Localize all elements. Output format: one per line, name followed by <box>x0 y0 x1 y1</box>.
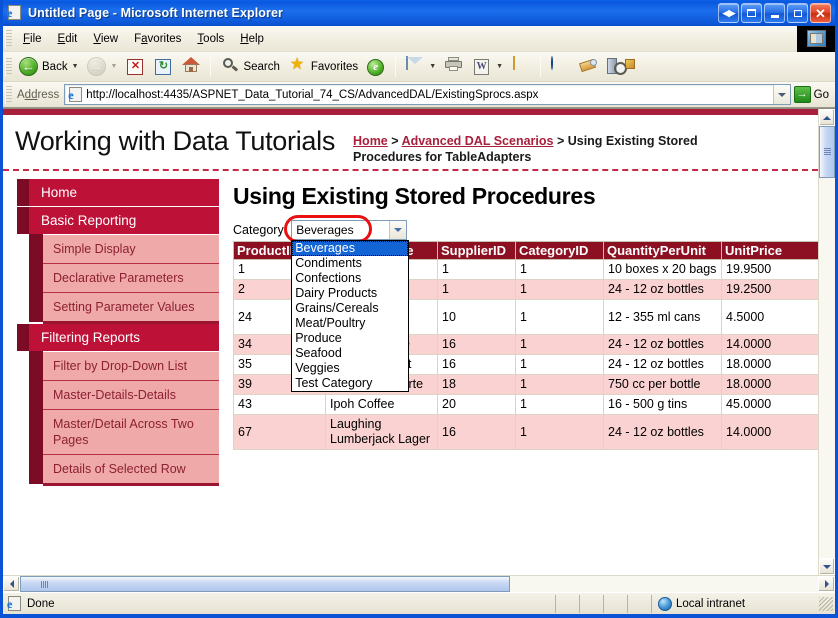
encoding-button[interactable] <box>630 55 658 79</box>
breadcrumb-link-home[interactable]: Home <box>353 134 388 148</box>
option-meat-poultry[interactable]: Meat/Poultry <box>292 316 408 331</box>
option-beverages[interactable]: Beverages <box>292 241 408 256</box>
cell-unitprice: 45.0000 <box>722 395 819 415</box>
toolbar-separator-3 <box>540 57 541 77</box>
security-zone-label: Local intranet <box>676 598 745 610</box>
cell-quantityperunit: 12 - 355 ml cans <box>604 300 722 335</box>
cell-unitprice: 14.0000 <box>722 415 819 450</box>
print-icon <box>444 57 464 77</box>
sidebar-item-master-details-details[interactable]: Master-Details-Details <box>43 381 219 410</box>
messenger-button[interactable] <box>546 55 574 79</box>
ie-document-icon: e <box>7 5 23 21</box>
category-select-value: Beverages <box>296 223 353 237</box>
sidebar-item-details-of-selected-row[interactable]: Details of Selected Row <box>43 455 219 486</box>
favorites-button-label: Favorites <box>311 61 358 73</box>
cell-categoryid: 1 <box>516 300 604 335</box>
scroll-up-button[interactable] <box>819 109 835 126</box>
page-header: Working with Data Tutorials Home > Advan… <box>3 115 818 171</box>
option-condiments[interactable]: Condiments <box>292 256 408 271</box>
cell-quantityperunit: 10 boxes x 20 bags <box>604 260 722 280</box>
toolbar-gripper[interactable] <box>5 58 12 76</box>
column-header-supplierid: SupplierID <box>438 242 516 260</box>
title-bar: e Untitled Page - Microsoft Internet Exp… <box>3 0 835 26</box>
resize-grip[interactable] <box>819 597 833 611</box>
cell-supplierid: 16 <box>438 335 516 355</box>
menu-edit[interactable]: Edit <box>50 30 86 48</box>
cell-unitprice: 14.0000 <box>722 335 819 355</box>
column-header-quantityperunit: QuantityPerUnit <box>604 242 722 260</box>
option-grains-cereals[interactable]: Grains/Cereals <box>292 301 408 316</box>
chevron-down-icon[interactable] <box>389 221 406 239</box>
cell-supplierid: 1 <box>438 260 516 280</box>
breadcrumb: Home > Advanced DAL Scenarios > Using Ex… <box>353 133 733 165</box>
address-input-wrap[interactable]: e http://localhost:4435/ASPNET_Data_Tuto… <box>64 84 790 105</box>
cell-categoryid: 1 <box>516 335 604 355</box>
table-row: 67 Laughing Lumberjack Lager 16 1 24 - 1… <box>234 415 819 450</box>
favorites-button[interactable]: ★ Favorites <box>284 55 362 79</box>
search-button-label: Search <box>243 61 279 73</box>
menu-favorites[interactable]: Favorites <box>126 30 189 48</box>
ie-brand-logo <box>797 26 835 52</box>
cell-productid: 67 <box>234 415 326 450</box>
intranet-globe-icon <box>658 597 672 611</box>
category-select-options-list[interactable]: Beverages Condiments Confections Dairy P… <box>291 240 409 392</box>
maximize-button[interactable] <box>787 3 808 23</box>
content-row: Home Basic Reporting Simple Display Decl… <box>3 171 818 486</box>
sidebar-nav: Home Basic Reporting Simple Display Decl… <box>3 179 225 486</box>
sidebar-item-home[interactable]: Home <box>29 179 219 207</box>
breadcrumb-link-section[interactable]: Advanced DAL Scenarios <box>402 134 554 148</box>
go-arrow-icon <box>794 86 811 103</box>
cell-categoryid: 1 <box>516 280 604 300</box>
menu-file[interactable]: FFileile <box>15 30 50 48</box>
stop-icon: ✕ <box>125 57 145 77</box>
forward-history-caret-icon[interactable]: ▼ <box>111 63 118 70</box>
option-dairy-products[interactable]: Dairy Products <box>292 286 408 301</box>
cell-categoryid: 1 <box>516 395 604 415</box>
sidebar-item-basic-reporting[interactable]: Basic Reporting <box>29 207 219 235</box>
sidebar-item-master-detail-two-pages[interactable]: Master/Detail Across Two Pages <box>43 410 219 455</box>
status-page-icon: e <box>7 596 23 612</box>
page-title: Using Existing Stored Procedures <box>233 183 818 210</box>
cell-quantityperunit: 750 cc per bottle <box>604 375 722 395</box>
go-button[interactable]: Go <box>791 86 833 103</box>
option-confections[interactable]: Confections <box>292 271 408 286</box>
back-history-caret-icon[interactable]: ▼ <box>72 63 79 70</box>
scroll-right-button[interactable] <box>818 576 835 592</box>
vertical-scroll-thumb[interactable] <box>819 126 835 178</box>
menu-tools[interactable]: Tools <box>189 30 232 48</box>
edit-with-word-button[interactable]: ▼ <box>468 55 507 79</box>
media-icon <box>366 57 386 77</box>
category-select-wrap: Beverages Beverages Condiments Confectio… <box>291 220 407 240</box>
option-seafood[interactable]: Seafood <box>292 346 408 361</box>
edit-with-word-icon <box>472 57 492 77</box>
forward-icon: → <box>87 57 107 77</box>
menubar-gripper[interactable] <box>5 30 12 48</box>
favorites-star-icon: ★ <box>288 57 308 77</box>
vertical-scroll-track[interactable] <box>819 178 835 558</box>
page-vertical-scrollbar[interactable] <box>818 109 835 575</box>
scroll-down-button[interactable] <box>819 558 835 575</box>
address-url-text[interactable]: http://localhost:4435/ASPNET_Data_Tutori… <box>86 89 772 101</box>
security-zone-indicator[interactable]: Local intranet <box>651 595 819 613</box>
cell-quantityperunit: 24 - 12 oz bottles <box>604 355 722 375</box>
scroll-left-button[interactable] <box>3 576 20 592</box>
toolbar-separator-2 <box>395 57 396 77</box>
option-test-category[interactable]: Test Category <box>292 376 408 391</box>
mail-button[interactable]: ▼ <box>401 55 440 79</box>
sidebar-item-filtering-reports[interactable]: Filtering Reports <box>29 324 219 352</box>
notes-icon <box>511 57 531 77</box>
cell-supplierid: 10 <box>438 300 516 335</box>
research-icon <box>578 57 598 77</box>
search-icon <box>220 57 240 77</box>
forward-button[interactable]: → ▼ <box>83 55 122 79</box>
browser-window: e Untitled Page - Microsoft Internet Exp… <box>0 0 838 618</box>
toolbar-separator <box>210 57 211 77</box>
home-icon <box>181 57 201 77</box>
encoding-icon <box>634 57 654 77</box>
research-button[interactable] <box>574 55 602 79</box>
cell-supplierid: 16 <box>438 355 516 375</box>
cell-supplierid: 20 <box>438 395 516 415</box>
cell-quantityperunit: 24 - 12 oz bottles <box>604 280 722 300</box>
messenger-icon <box>550 57 570 77</box>
minimize-button[interactable] <box>764 3 785 23</box>
back-button[interactable]: ← Back ▼ <box>15 55 83 79</box>
cell-categoryid: 1 <box>516 415 604 450</box>
sidebar-item-declarative-parameters[interactable]: Declarative Parameters <box>43 264 219 293</box>
window-controls: ◀▶ ✕ <box>718 3 833 23</box>
cell-unitprice: 4.5000 <box>722 300 819 335</box>
cell-quantityperunit: 24 - 12 oz bottles <box>604 335 722 355</box>
cell-supplierid: 18 <box>438 375 516 395</box>
find-icon <box>606 57 626 77</box>
cell-unitprice: 18.0000 <box>722 375 819 395</box>
site-title: Working with Data Tutorials <box>15 121 335 161</box>
category-filter-row: Category: Beverages Beverages Condiments <box>233 220 818 240</box>
address-bar: Address e http://localhost:4435/ASPNET_D… <box>3 82 835 108</box>
sidebar-item-simple-display[interactable]: Simple Display <box>43 235 219 264</box>
status-pane-1 <box>555 595 579 613</box>
menu-bar: FFileile Edit View Favorites Tools Help <box>3 26 835 52</box>
page-favicon-icon: e <box>67 87 83 103</box>
notes-button[interactable] <box>507 55 535 79</box>
category-select[interactable]: Beverages <box>291 220 407 240</box>
cell-categoryid: 1 <box>516 355 604 375</box>
address-label: Address <box>15 89 64 101</box>
status-text: Done <box>27 598 55 610</box>
addressbar-gripper[interactable] <box>5 86 12 104</box>
print-button[interactable] <box>440 55 468 79</box>
status-pane-4 <box>627 595 651 613</box>
breadcrumb-sep-1: > <box>388 134 402 148</box>
option-produce[interactable]: Produce <box>292 331 408 346</box>
media-button[interactable] <box>362 55 390 79</box>
window-title: Untitled Page - Microsoft Internet Explo… <box>28 6 283 20</box>
category-label: Category: <box>233 223 287 237</box>
horizontal-scroll-thumb[interactable] <box>20 576 510 592</box>
stop-button[interactable]: ✕ <box>121 55 149 79</box>
refresh-button[interactable]: ↻ <box>149 55 177 79</box>
page-horizontal-scrollbar[interactable] <box>3 575 835 592</box>
page-document: Working with Data Tutorials Home > Advan… <box>3 109 818 575</box>
full-screen-button[interactable] <box>741 3 762 23</box>
cell-unitprice: 19.9500 <box>722 260 819 280</box>
restore-down-split-button[interactable]: ◀▶ <box>718 3 739 23</box>
back-icon: ← <box>19 57 39 77</box>
horizontal-scroll-track[interactable] <box>510 576 818 592</box>
breadcrumb-sep-2: > <box>553 134 567 148</box>
cell-categoryid: 1 <box>516 375 604 395</box>
menu-help[interactable]: Help <box>232 30 272 48</box>
main-content: Using Existing Stored Procedures Categor… <box>225 179 818 486</box>
cell-supplierid: 16 <box>438 415 516 450</box>
column-header-unitprice: UnitPrice <box>722 242 819 260</box>
cell-unitprice: 18.0000 <box>722 355 819 375</box>
sidebar-item-setting-parameter-values[interactable]: Setting Parameter Values <box>43 293 219 324</box>
cell-unitprice: 19.2500 <box>722 280 819 300</box>
address-dropdown-button[interactable] <box>773 85 790 104</box>
column-header-categoryid: CategoryID <box>516 242 604 260</box>
cell-productname: Ipoh Coffee <box>326 395 438 415</box>
mail-icon <box>405 57 425 77</box>
cell-quantityperunit: 24 - 12 oz bottles <box>604 415 722 450</box>
edit-caret-icon[interactable]: ▼ <box>496 63 503 70</box>
browser-toolbar: ← Back ▼ → ▼ ✕ ↻ Search ★ Favorites <box>3 52 835 82</box>
cell-supplierid: 1 <box>438 280 516 300</box>
home-button[interactable] <box>177 55 205 79</box>
cell-quantityperunit: 16 - 500 g tins <box>604 395 722 415</box>
refresh-icon: ↻ <box>153 57 173 77</box>
cell-categoryid: 1 <box>516 260 604 280</box>
cell-productid: 43 <box>234 395 326 415</box>
sidebar-item-filter-by-drop-down-list[interactable]: Filter by Drop-Down List <box>43 352 219 381</box>
menu-view[interactable]: View <box>85 30 126 48</box>
go-button-label: Go <box>814 89 829 101</box>
table-row: 43 Ipoh Coffee 20 1 16 - 500 g tins 45.0… <box>234 395 819 415</box>
close-button[interactable]: ✕ <box>810 3 831 23</box>
option-veggies[interactable]: Veggies <box>292 361 408 376</box>
mail-caret-icon[interactable]: ▼ <box>429 63 436 70</box>
back-button-label: Back <box>42 61 68 73</box>
status-bar: e Done Local intranet <box>3 592 835 614</box>
cell-productname: Laughing Lumberjack Lager <box>326 415 438 450</box>
search-button[interactable]: Search <box>216 55 283 79</box>
browser-viewport: Working with Data Tutorials Home > Advan… <box>3 108 835 592</box>
page-area: Working with Data Tutorials Home > Advan… <box>3 109 835 575</box>
status-pane-3 <box>603 595 627 613</box>
status-pane-2 <box>579 595 603 613</box>
